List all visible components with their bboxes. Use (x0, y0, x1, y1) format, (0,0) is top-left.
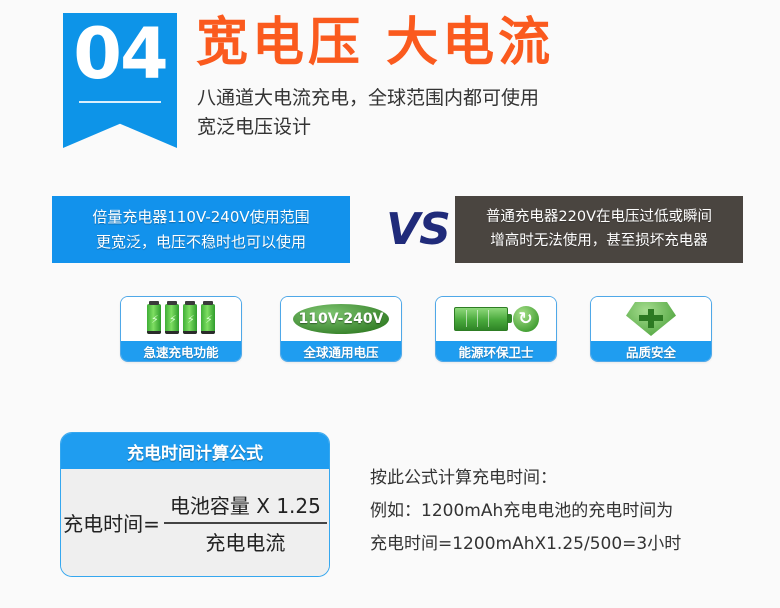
good-panel-line-1: 倍量充电器110V-240V使用范围 (92, 205, 309, 230)
safety-art (591, 297, 711, 341)
explanation-line-3: 充电时间=1200mAhX1.25/500=3小时 (370, 528, 681, 561)
promo-page: 04 宽电压 大电流 八通道大电流充电，全球范围内都可使用 宽泛电压设计 倍量充… (0, 0, 780, 608)
section-number-badge: 04 (63, 13, 177, 148)
formula-denominator: 充电电流 (199, 524, 291, 556)
section-number: 04 (63, 19, 177, 89)
voltage-range-ellipse-icon: 110V-240V (293, 304, 389, 334)
feature-label: 全球通用电压 (281, 341, 401, 361)
feature-label: 品质安全 (591, 341, 711, 361)
formula-body: 充电时间= 电池容量 X 1.25 充电电流 (61, 469, 329, 576)
explanation-text: 按此公式计算充电时间： 例如：1200mAh充电电池的充电时间为 充电时间=12… (370, 462, 681, 561)
feature-card-fast-charge[interactable]: ⚡ ⚡ ⚡ ⚡ 急速充电功能 (120, 296, 242, 362)
formula-numerator: 电池容量 X 1.25 (164, 490, 327, 522)
eco-art: ↻ (436, 297, 556, 341)
feature-card-universal-voltage[interactable]: 110V-240V 全球通用电压 (280, 296, 402, 362)
subtitle-line-1: 八通道大电流充电，全球范围内都可使用 (197, 84, 539, 113)
formula-heading: 充电时间计算公式 (61, 433, 329, 469)
explanation-line-2: 例如：1200mAh充电电池的充电时间为 (370, 495, 681, 528)
feature-card-quality-safety[interactable]: 品质安全 (590, 296, 712, 362)
fast-charge-art: ⚡ ⚡ ⚡ ⚡ (121, 297, 241, 341)
good-product-panel: 倍量充电器110V-240V使用范围 更宽泛，电压不稳时也可以使用 (52, 196, 350, 263)
four-charging-batteries-icon: ⚡ ⚡ ⚡ ⚡ (147, 304, 215, 334)
badge-divider-line (79, 101, 161, 103)
bad-panel-line-1: 普通充电器220V在电压过低或瞬间 (486, 206, 712, 230)
formula-left-term: 充电时间= (63, 508, 160, 537)
good-panel-line-2: 更宽泛，电压不稳时也可以使用 (92, 230, 309, 255)
header-section: 04 宽电压 大电流 八通道大电流充电，全球范围内都可使用 宽泛电压设计 (0, 0, 780, 175)
feature-card-eco[interactable]: ↻ 能源环保卫士 (435, 296, 557, 362)
bad-panel-line-2: 增高时无法使用，甚至损坏充电器 (486, 230, 712, 254)
page-subtitle: 八通道大电流充电，全球范围内都可使用 宽泛电压设计 (197, 84, 539, 143)
voltage-art: 110V-240V (281, 297, 401, 341)
formula-box: 充电时间计算公式 充电时间= 电池容量 X 1.25 充电电流 (60, 432, 330, 577)
vs-label: VS (382, 204, 454, 255)
feature-label: 急速充电功能 (121, 341, 241, 361)
formula-fraction: 电池容量 X 1.25 充电电流 (164, 490, 327, 556)
comparison-section: 倍量充电器110V-240V使用范围 更宽泛，电压不稳时也可以使用 VS 普通充… (0, 196, 780, 276)
subtitle-line-2: 宽泛电压设计 (197, 113, 539, 142)
shield-plus-icon (626, 302, 676, 336)
bad-product-panel: 普通充电器220V在电压过低或瞬间 增高时无法使用，甚至损坏充电器 (455, 196, 743, 263)
battery-recycle-icon: ↻ (454, 306, 539, 332)
feature-cards: ⚡ ⚡ ⚡ ⚡ 急速充电功能 110V-240V 全球通用电压 ↻ 能源环保卫 (0, 296, 780, 366)
explanation-line-1: 按此公式计算充电时间： (370, 462, 681, 495)
feature-label: 能源环保卫士 (436, 341, 556, 361)
page-title: 宽电压 大电流 (196, 12, 554, 74)
recycle-arrow-icon: ↻ (513, 306, 539, 332)
